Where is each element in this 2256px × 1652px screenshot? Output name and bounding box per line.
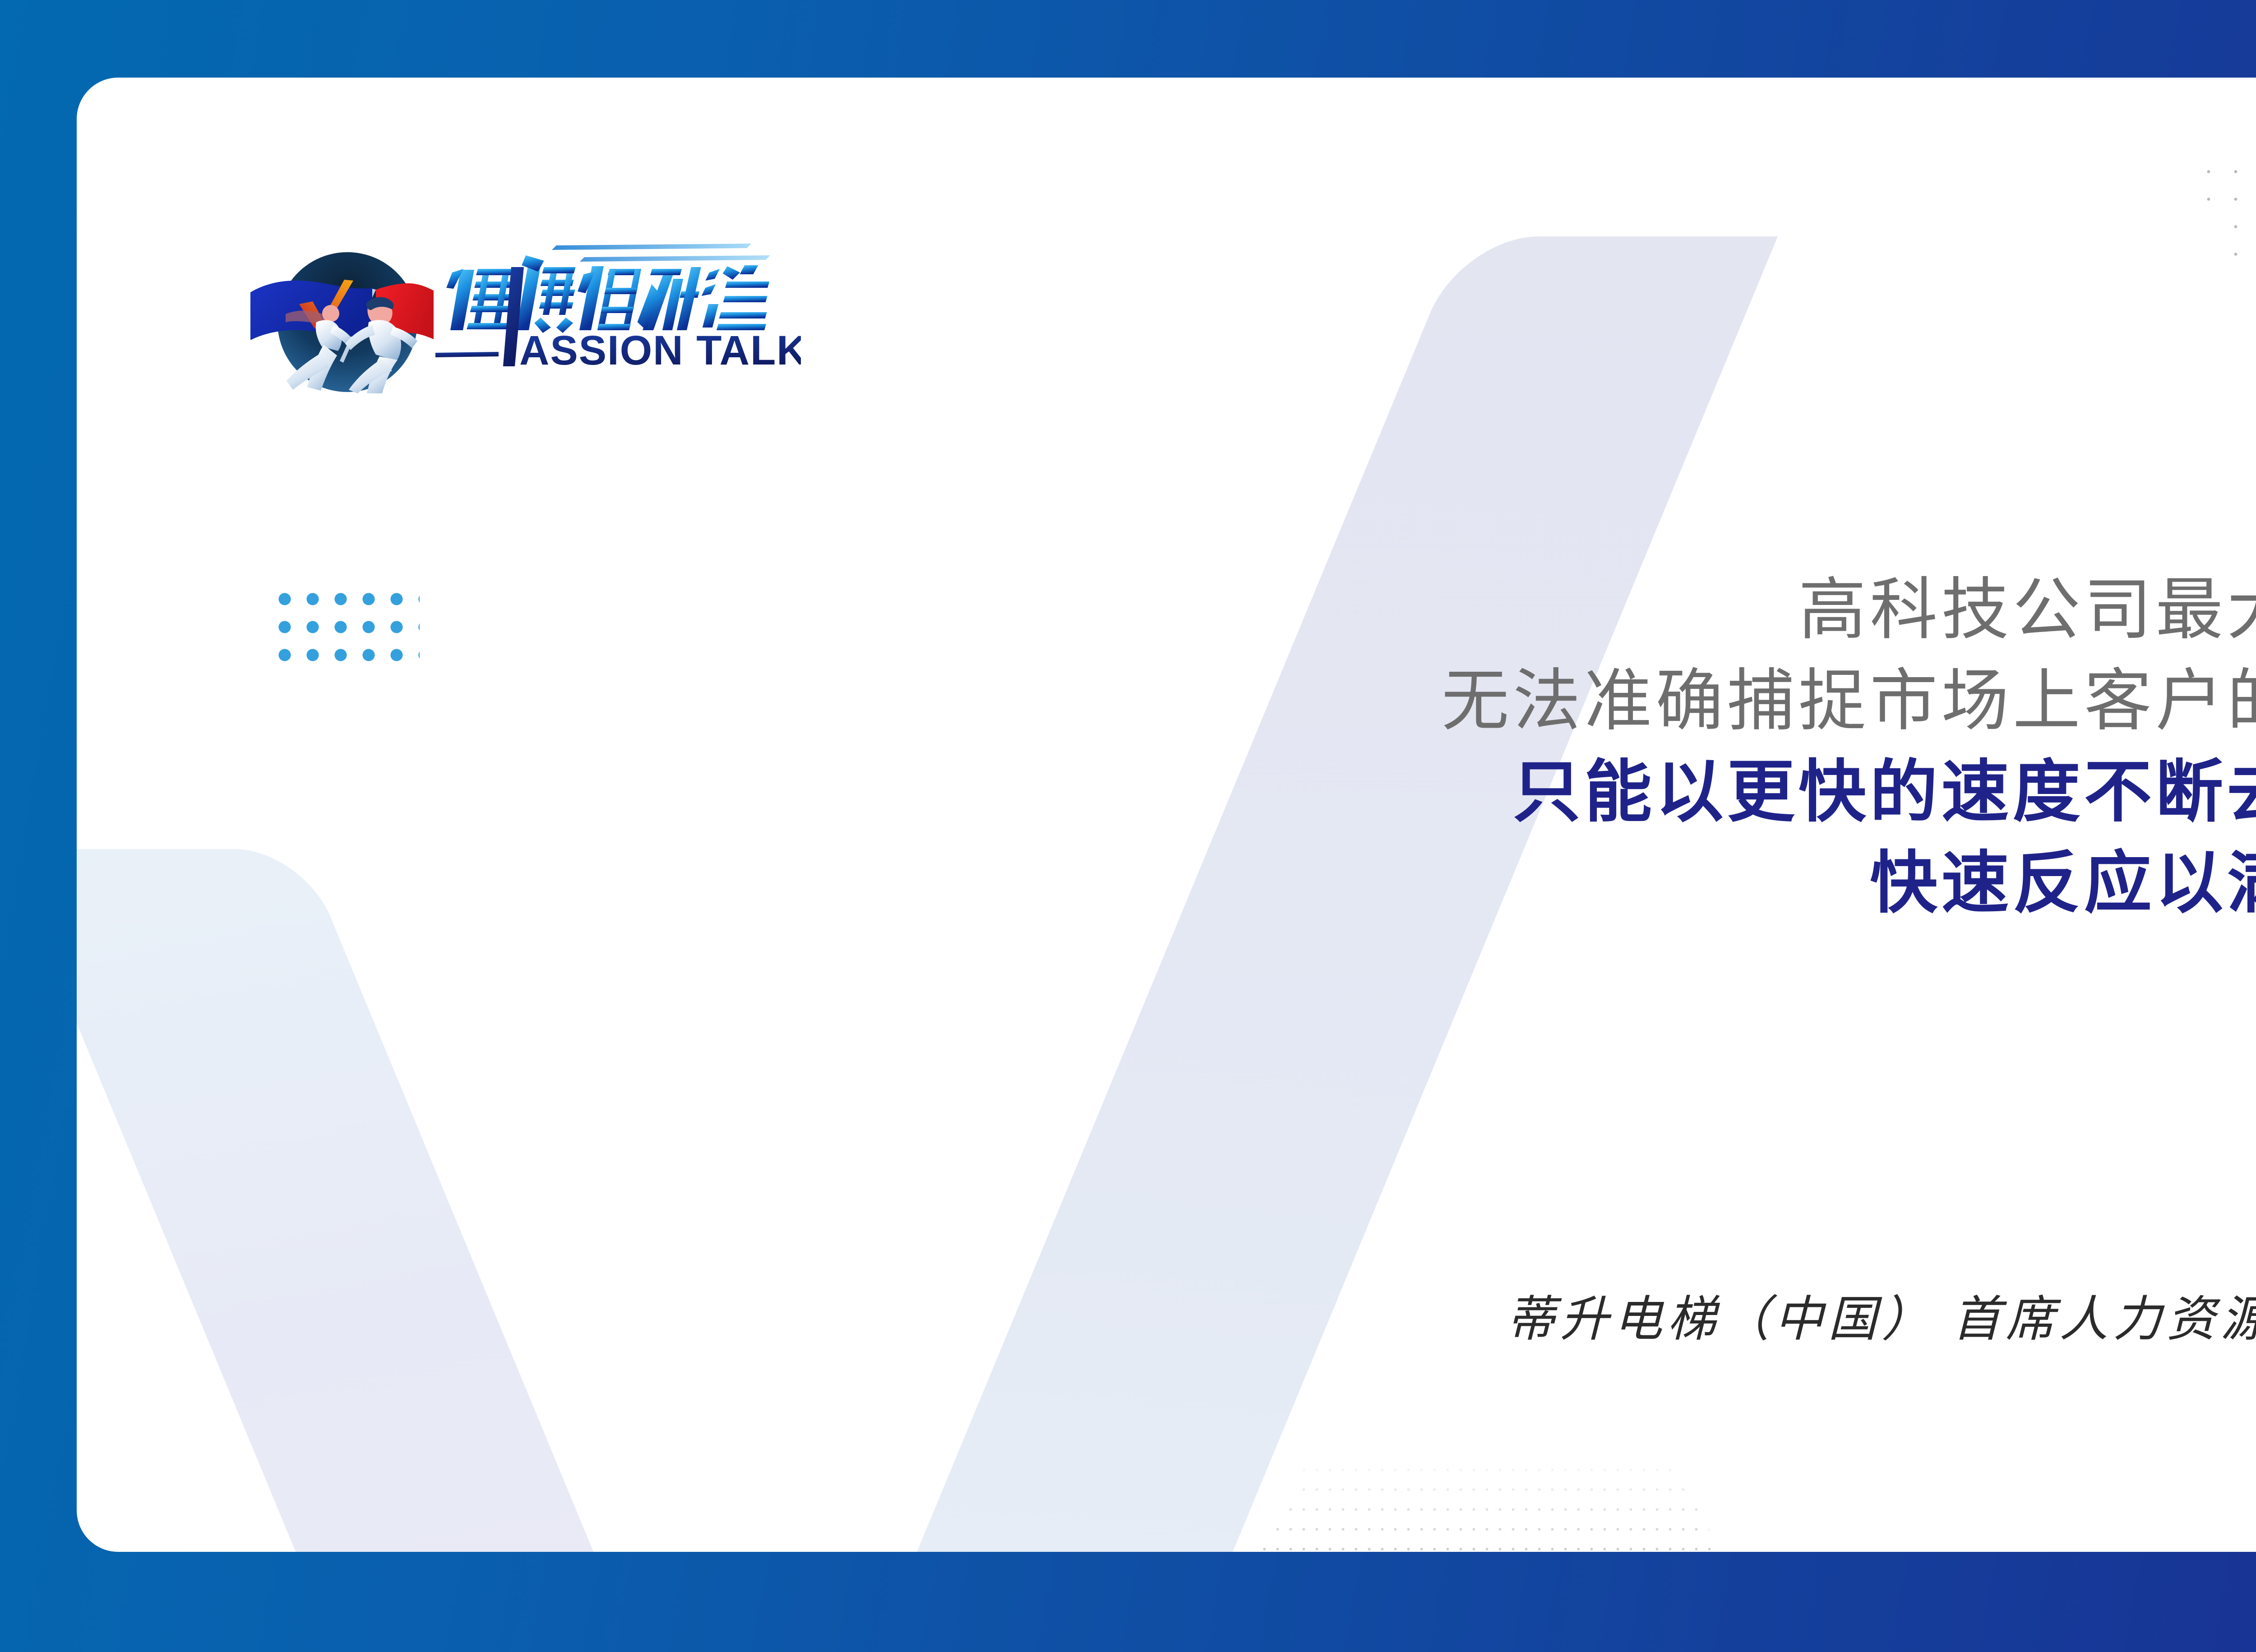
v-watermark-left-stroke — [77, 849, 751, 1552]
quote-line-2: 无法准确捕捉市场上客户的需求在哪里 — [715, 655, 2256, 746]
logo-wordmark: ASSION TALK — [435, 237, 801, 373]
quote-line-4: 快速反应以满足客户需求 — [715, 837, 2256, 928]
quote-line-1: 高科技公司最大的挑战在于 — [715, 564, 2256, 655]
two-runners-with-flags-emblem — [237, 204, 449, 393]
dot-grid-top-right — [2060, 158, 2256, 523]
slide-root: ASSION TALK 高科技公司最大的挑战在于 无法准确捕捉市场上客户的需求在… — [0, 0, 2256, 1652]
dot-grid-bottom — [1232, 1440, 1724, 1552]
quote-line-3: 只能以更快的速度不断去试错和探索 — [715, 746, 2256, 837]
speed-line-1 — [552, 244, 751, 250]
quote-block: 高科技公司最大的挑战在于 无法准确捕捉市场上客户的需求在哪里 只能以更快的速度不… — [715, 564, 2256, 928]
dot-grid-blue-left — [271, 585, 420, 669]
white-content-card: ASSION TALK 高科技公司最大的挑战在于 无法准确捕捉市场上客户的需求在… — [77, 78, 2256, 1552]
logo-dash — [435, 352, 499, 357]
speed-line-2 — [580, 255, 770, 262]
brand-logo: ASSION TALK — [237, 199, 801, 393]
attribution-line: 蒂升电梯（中国） 首席人力资源官—— 陈敏先生 — [715, 1288, 2256, 1352]
logo-title-en-text: ASSION TALK — [519, 328, 801, 373]
logo-title-cn-glyphs — [440, 255, 776, 333]
